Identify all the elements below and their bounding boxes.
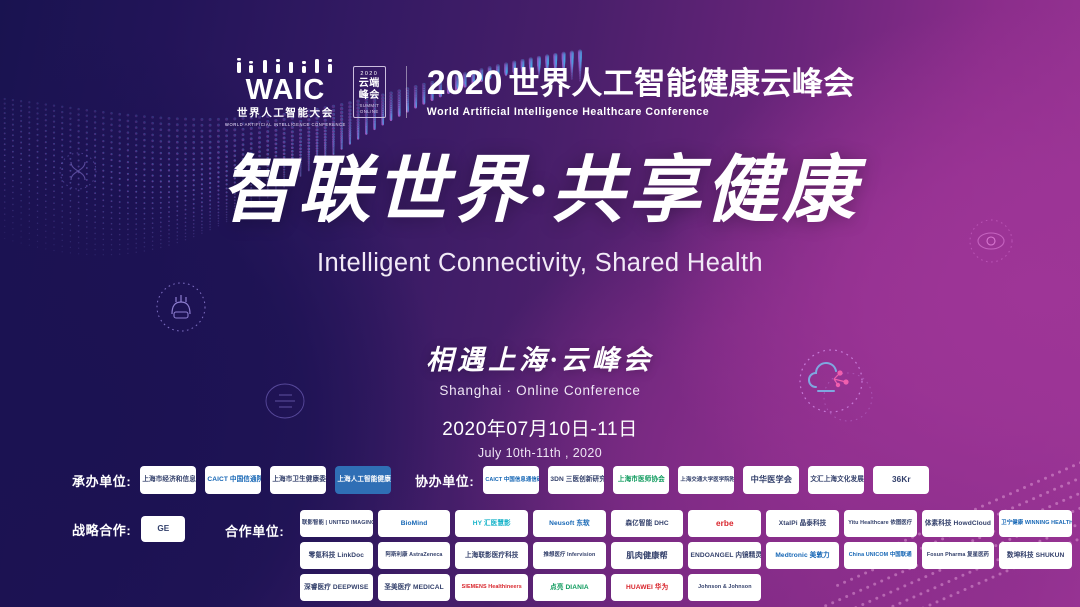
sponsor-logo[interactable]: 3DN 三医创新研究院 xyxy=(548,466,604,494)
sponsor-logo-text: 阿斯利康 AstraZeneca xyxy=(384,551,445,559)
strategic-logos: GE xyxy=(141,516,185,542)
sponsor-logo[interactable]: 上海市卫生健康委员会 xyxy=(270,466,326,494)
waic-chinese-name: 世界人工智能大会 xyxy=(237,108,334,120)
waic-dots-icon xyxy=(233,58,338,75)
meeting-date-cn: 2020年07月10日-11日 xyxy=(0,414,1080,441)
coorganizer-row: 协办单位: CAICT 中国信息通信研究院 华东分院3DN 三医创新研究院上海市… xyxy=(415,466,929,494)
sponsor-logo-text: 深睿医疗 DEEPWISE xyxy=(302,583,370,593)
waic-wordmark: WAIC xyxy=(246,76,326,105)
sponsor-logo-text: 零氪科技 LinkDoc xyxy=(307,551,366,561)
conference-poster: WAIC 世界人工智能大会 WORLD ARTIFICIAL INTELLIGE… xyxy=(0,0,1080,607)
sponsor-logo-text: 文汇上海文化发展集团 xyxy=(808,475,864,485)
sponsor-logo-text: HUAWEI 华为 xyxy=(624,583,670,593)
sponsor-logo[interactable]: 上海市经济和信息化委员会 xyxy=(140,466,196,494)
sponsor-logo[interactable]: HUAWEI 华为 xyxy=(611,574,684,601)
waic-logo: WAIC 世界人工智能大会 WORLD ARTIFICIAL INTELLIGE… xyxy=(225,58,386,127)
sponsor-logo[interactable]: erbe xyxy=(688,510,761,537)
sponsor-logo[interactable]: 上海交通大学医学院附属医院 智慧医疗研究院 xyxy=(678,466,734,494)
coorganizer-logos: CAICT 中国信息通信研究院 华东分院3DN 三医创新研究院上海市医师协会上海… xyxy=(483,466,929,494)
sponsor-logo-text: 上海市医师协会 xyxy=(616,475,667,485)
sponsor-logo-text: 肌肉健康帮 xyxy=(624,550,669,562)
sponsor-logo[interactable]: 文汇上海文化发展集团 xyxy=(808,466,864,494)
hero-slogan-cn: 智联世界·共享健康 xyxy=(0,152,1080,231)
sponsor-logo[interactable]: 数坤科技 SHUKUN xyxy=(999,542,1072,569)
sponsor-logo[interactable]: 圣美医疗 MEDICAL xyxy=(378,574,451,601)
organizer-row: 承办单位: 上海市经济和信息化委员会CAICT 中国信通院上海市卫生健康委员会上… xyxy=(72,466,391,494)
sponsor-logo-text: 上海交通大学医学院附属医院 智慧医疗研究院 xyxy=(678,476,734,484)
sponsor-logo-text: 上海市经济和信息化委员会 xyxy=(140,475,196,485)
sponsor-logo-text: 36Kr xyxy=(890,474,913,486)
sponsor-logo-text: Johnson & Johnson xyxy=(696,583,754,591)
sponsor-logo-text: 联影智能 | UNITED IMAGING xyxy=(300,519,373,527)
sponsor-logo-text: 上海联影医疗科技 xyxy=(463,551,521,561)
sponsor-logo-text: CAICT 中国信通院 xyxy=(205,475,261,485)
sponsor-logo[interactable]: 阿斯利康 AstraZeneca xyxy=(378,542,451,569)
partner-logos: 联影智能 | UNITED IMAGINGBioMindHY 汇医慧影Neuso… xyxy=(300,510,1072,601)
sponsor-logo[interactable]: 体素科技 HowdCloud xyxy=(922,510,995,537)
sponsor-logo[interactable]: 推想医疗 Infervision xyxy=(533,542,606,569)
sponsor-logo[interactable]: 深睿医疗 DEEPWISE xyxy=(300,574,373,601)
sponsor-logo[interactable]: SIEMENS Healthineers xyxy=(455,574,528,601)
badge-cn-line1: 云端 xyxy=(359,78,380,89)
sponsor-logo[interactable]: 肌肉健康帮 xyxy=(611,542,684,569)
sponsor-logo[interactable]: Medtronic 美敦力 xyxy=(766,542,839,569)
sponsor-logo-text: Yitu Healthcare 依图医疗 xyxy=(846,519,914,527)
medical-circle-icon xyxy=(152,278,210,336)
sponsor-logo[interactable]: CAICT 中国信通院 xyxy=(205,466,261,494)
hero-slogan-en: Intelligent Connectivity, Shared Health xyxy=(0,249,1080,278)
header-title-en: World Artificial Intelligence Healthcare… xyxy=(427,106,855,118)
badge-cn-line2: 峰会 xyxy=(359,90,380,101)
header-title-cn: 世界人工智能健康云峰会 xyxy=(508,68,855,99)
sponsor-logo[interactable]: Neusoft 东软 xyxy=(533,510,606,537)
sponsor-logo-text: HY 汇医慧影 xyxy=(471,519,513,529)
organizer-label: 承办单位: xyxy=(72,471,131,490)
sponsor-logo-text: erbe xyxy=(714,518,736,530)
sponsor-logo-text: 推想医疗 Infervision xyxy=(541,551,597,559)
sponsor-logo[interactable]: HY 汇医慧影 xyxy=(455,510,528,537)
sponsor-logo[interactable]: CAICT 中国信息通信研究院 华东分院 xyxy=(483,466,539,494)
sponsor-logo[interactable]: ENDOANGEL 内镜精灵 xyxy=(688,542,761,569)
sponsor-logo-text: CAICT 中国信息通信研究院 华东分院 xyxy=(483,476,539,484)
sponsor-logo[interactable]: GE xyxy=(141,516,185,542)
sponsor-logo-text: 中华医学会 xyxy=(749,474,794,486)
badge-year: 2020 xyxy=(360,71,378,77)
sponsor-logo[interactable]: 中华医学会 xyxy=(743,466,799,494)
sponsor-logo-text: 上海人工智能健康研究院 xyxy=(335,475,391,485)
hero-block: 智联世界·共享健康 Intelligent Connectivity, Shar… xyxy=(0,152,1080,278)
sponsor-logo-text: Neusoft 东软 xyxy=(547,519,592,529)
meeting-place-en: Shanghai · Online Conference xyxy=(0,383,1080,398)
meeting-place-cn: 相遇上海·云峰会 xyxy=(0,338,1080,377)
sponsor-logo[interactable]: 点亮 DIANIA xyxy=(533,574,606,601)
sponsor-logo[interactable]: 上海市医师协会 xyxy=(613,466,669,494)
sponsor-logo[interactable]: 36Kr xyxy=(873,466,929,494)
sponsor-logo[interactable]: 上海联影医疗科技 xyxy=(455,542,528,569)
header-title-block: 2020 世界人工智能健康云峰会 World Artificial Intell… xyxy=(427,66,855,118)
header-logo-row: WAIC 世界人工智能大会 WORLD ARTIFICIAL INTELLIGE… xyxy=(0,58,1080,127)
sponsor-logo[interactable]: 卫宁健康 WINNING HEALTH xyxy=(999,510,1072,537)
sponsor-logo-text: 上海市卫生健康委员会 xyxy=(270,475,326,485)
header-divider xyxy=(406,66,407,118)
sponsor-logo[interactable]: 上海人工智能健康研究院 xyxy=(335,466,391,494)
sponsor-logo-text: BioMind xyxy=(399,519,430,529)
sponsor-logo[interactable]: XtalPi 晶泰科技 xyxy=(766,510,839,537)
waic-online-badge: 2020 云端 峰会 SUMMIT ONLINE xyxy=(353,66,386,118)
waic-logo-main: WAIC 世界人工智能大会 WORLD ARTIFICIAL INTELLIGE… xyxy=(225,58,346,127)
strategic-row: 战略合作: GE xyxy=(72,516,185,542)
sponsor-logo-text: GE xyxy=(155,523,171,535)
sponsor-logo[interactable]: China UNICOM 中国联通 xyxy=(844,542,917,569)
sponsor-logo[interactable]: 联影智能 | UNITED IMAGING xyxy=(300,510,373,537)
strategic-label: 战略合作: xyxy=(72,520,131,539)
sponsor-area: 承办单位: 上海市经济和信息化委员会CAICT 中国信通院上海市卫生健康委员会上… xyxy=(0,458,1080,607)
sponsor-logo-text: XtalPi 晶泰科技 xyxy=(777,519,829,529)
meeting-info-block: 相遇上海·云峰会 Shanghai · Online Conference 20… xyxy=(0,338,1080,460)
sponsor-logo[interactable]: Fosun Pharma 复星医药 xyxy=(922,542,995,569)
sponsor-logo[interactable]: Johnson & Johnson xyxy=(688,574,761,601)
sponsor-logo-text: 数坤科技 SHUKUN xyxy=(1005,551,1067,561)
sponsor-logo-text: China UNICOM 中国联通 xyxy=(847,551,914,559)
sponsor-logo-text: Medtronic 美敦力 xyxy=(773,551,831,561)
sponsor-logo-text: 点亮 DIANIA xyxy=(548,583,591,593)
coorganizer-label: 协办单位: xyxy=(415,471,474,490)
sponsor-logo-text: 森亿智能 DHC xyxy=(623,519,670,529)
sponsor-logo-text: 圣美医疗 MEDICAL xyxy=(382,583,445,593)
header-year: 2020 xyxy=(427,66,503,100)
waic-english-name: WORLD ARTIFICIAL INTELLIGENCE CONFERENCE xyxy=(225,122,346,127)
sponsor-logo-text: 3DN 三医创新研究院 xyxy=(548,475,604,485)
sponsor-logo-text: ENDOANGEL 内镜精灵 xyxy=(688,551,761,561)
sponsor-logo-text: 体素科技 HowdCloud xyxy=(923,519,993,529)
sponsor-logo-text: SIEMENS Healthineers xyxy=(460,583,524,591)
sponsor-logo-text: Fosun Pharma 复星医药 xyxy=(925,551,991,559)
sponsor-logo[interactable]: 零氪科技 LinkDoc xyxy=(300,542,373,569)
organizer-logos: 上海市经济和信息化委员会CAICT 中国信通院上海市卫生健康委员会上海人工智能健… xyxy=(140,466,391,494)
partner-label: 合作单位: xyxy=(225,521,284,540)
sponsor-logo[interactable]: 森亿智能 DHC xyxy=(611,510,684,537)
sponsor-logo[interactable]: Yitu Healthcare 依图医疗 xyxy=(844,510,917,537)
badge-en-line1: SUMMIT xyxy=(359,103,379,108)
badge-en-line2: ONLINE xyxy=(360,109,379,114)
sponsor-logo-text: 卫宁健康 WINNING HEALTH xyxy=(999,519,1072,527)
sponsor-logo[interactable]: BioMind xyxy=(378,510,451,537)
